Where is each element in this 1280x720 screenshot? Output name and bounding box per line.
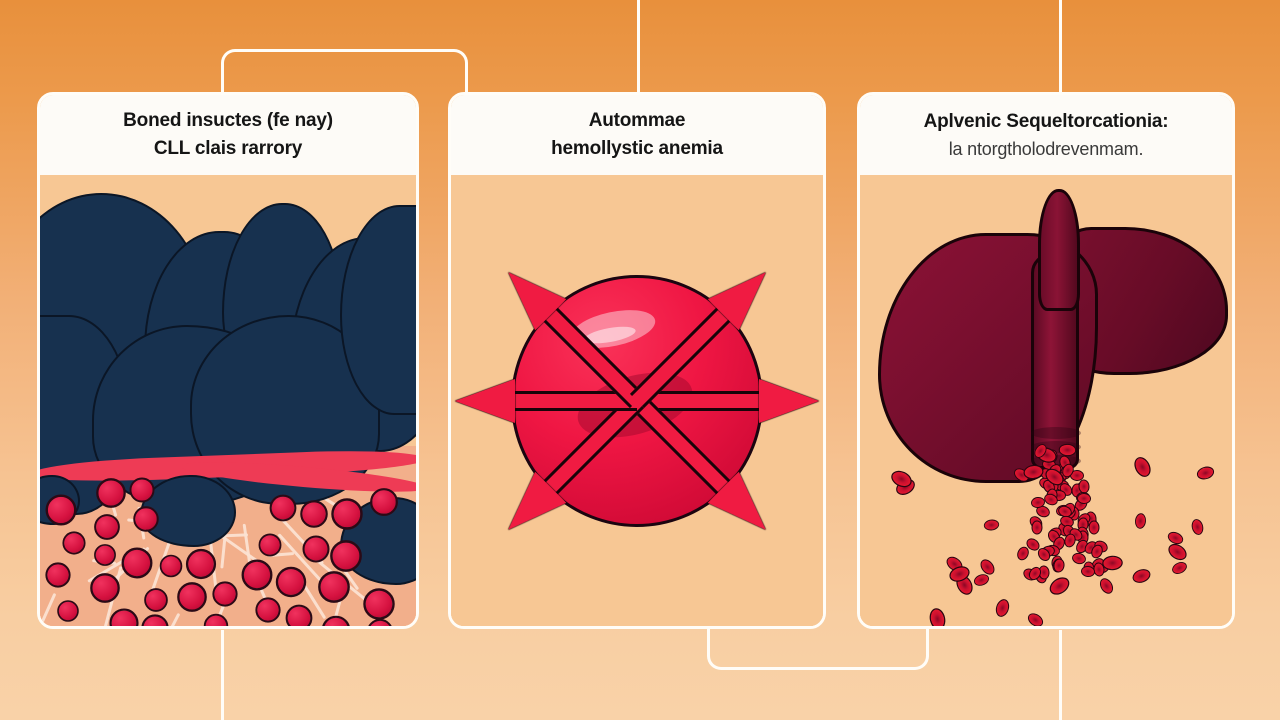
red-blood-cell xyxy=(1035,445,1059,466)
red-blood-cell xyxy=(364,588,395,619)
marrow-vessel-strand xyxy=(268,552,294,557)
marrow-vessel-strand xyxy=(309,487,340,508)
red-blood-cell xyxy=(1038,466,1056,484)
red-blood-cell xyxy=(1131,567,1153,585)
red-blood-cell xyxy=(259,534,282,557)
leukemic-lymphocyte xyxy=(40,315,130,515)
red-blood-cell xyxy=(1057,481,1074,499)
destruction-arrow xyxy=(621,385,781,545)
red-blood-cell xyxy=(1051,535,1067,553)
red-blood-cell xyxy=(1102,556,1123,572)
vessel-ring xyxy=(1031,441,1081,453)
marrow-vessel-strand xyxy=(278,515,325,565)
red-blood-cell xyxy=(1073,480,1090,498)
arrow-head xyxy=(493,256,567,330)
red-blood-cell xyxy=(94,544,116,566)
red-blood-cell xyxy=(1027,514,1045,532)
cell-highlight xyxy=(567,303,658,354)
marrow-vessel-strand xyxy=(199,520,262,566)
red-blood-cell xyxy=(1082,538,1100,556)
connector-top-left-bracket xyxy=(221,49,468,94)
red-blood-cell xyxy=(1012,466,1032,485)
red-blood-cell xyxy=(943,554,964,574)
red-blood-cell xyxy=(1046,574,1072,599)
arrow-shaft xyxy=(630,393,737,500)
cell-highlight-secondary xyxy=(583,323,637,346)
organ-left-lobe xyxy=(878,233,1098,483)
marrow-vessel-strand xyxy=(278,533,329,588)
panel-title-line-2: la ntorgtholodrevenmam. xyxy=(924,136,1169,162)
marrow-tissue-floor xyxy=(40,446,416,626)
leukemic-lymphocyte xyxy=(340,205,416,415)
organ-vessel-stalk xyxy=(1031,253,1079,469)
marrow-sinusoid-band xyxy=(40,447,416,484)
red-blood-cell xyxy=(1076,491,1091,504)
red-blood-cell xyxy=(1059,514,1076,529)
red-blood-cell xyxy=(1073,496,1091,514)
leukemic-lymphocyte xyxy=(222,203,342,398)
vessel-ring xyxy=(1031,455,1081,467)
red-blood-cell xyxy=(130,478,155,503)
red-blood-cell xyxy=(1056,521,1071,538)
panel-header: Aplvenic Sequeltorcationia: la ntorgthol… xyxy=(860,95,1232,175)
red-blood-cell xyxy=(269,495,296,522)
panel-header: Autommae hemollystic anemia xyxy=(451,95,823,175)
panel-title-line-2: CLL clais rarrory xyxy=(123,135,333,163)
red-blood-cell xyxy=(1025,611,1045,626)
red-blood-cell xyxy=(1093,562,1106,577)
red-blood-cell xyxy=(212,582,237,607)
red-blood-cell xyxy=(1081,566,1096,578)
destruction-arrow xyxy=(621,256,781,416)
marrow-vessel-strand xyxy=(252,570,274,617)
destruction-arrow xyxy=(493,256,653,416)
leukemic-lymphocyte xyxy=(40,193,208,443)
panel-autoimmune-hemolytic-anemia[interactable]: Autommae hemollystic anemia xyxy=(448,92,826,629)
red-blood-cell xyxy=(1089,543,1105,560)
arrow-shaft xyxy=(630,300,737,407)
leukemic-lymphocyte xyxy=(190,315,380,505)
red-blood-cell xyxy=(1098,576,1116,596)
cell-central-pallor xyxy=(570,360,699,448)
red-blood-cell xyxy=(276,566,306,596)
red-blood-cell xyxy=(984,519,1001,532)
destruction-arrow xyxy=(455,379,637,423)
red-blood-cell xyxy=(90,573,120,603)
marrow-vessel-strand xyxy=(207,534,248,539)
red-blood-cell xyxy=(928,607,948,626)
illustration-canvas: Boned insuctes (fe nay) CLL clais rarror… xyxy=(0,0,1280,720)
marrow-vessel-strand xyxy=(343,570,359,591)
red-blood-cell xyxy=(1051,475,1068,490)
red-blood-cell xyxy=(1040,478,1057,496)
red-blood-cell xyxy=(370,488,398,516)
infiltrating-lymphocyte xyxy=(140,475,236,547)
panel-illustration-area xyxy=(40,175,416,626)
arrow-shaft xyxy=(505,391,637,411)
connector-bottom-center-bracket xyxy=(707,628,929,670)
red-blood-cell xyxy=(133,506,158,531)
marrow-vessel-strand xyxy=(351,507,389,534)
red-blood-cell xyxy=(1045,488,1058,504)
red-blood-cell xyxy=(1084,512,1099,529)
red-blood-cell xyxy=(1046,462,1064,480)
red-blood-cell xyxy=(1075,510,1093,528)
destruction-arrow xyxy=(493,385,653,545)
red-blood-cell xyxy=(94,514,120,540)
marrow-vessel-strand xyxy=(333,580,347,624)
panel-title: Aplvenic Sequeltorcationia: la ntorgthol… xyxy=(924,108,1169,162)
red-blood-cell xyxy=(1035,504,1052,519)
red-blood-cell xyxy=(1072,483,1083,497)
red-blood-cell xyxy=(978,557,998,578)
red-blood-cell xyxy=(1134,512,1146,529)
red-blood-cell xyxy=(1060,462,1076,479)
red-blood-cell xyxy=(1076,492,1091,504)
panel-illustration-area xyxy=(860,175,1232,626)
red-blood-cell xyxy=(1067,526,1085,544)
marrow-vessel-strand xyxy=(220,536,226,568)
red-blood-cell xyxy=(1033,567,1049,584)
panel-title: Autommae hemollystic anemia xyxy=(551,107,723,162)
red-blood-cell xyxy=(1042,465,1067,488)
red-blood-cell xyxy=(186,549,216,579)
marrow-vessel-strand xyxy=(40,475,79,494)
red-blood-cell xyxy=(1021,566,1039,583)
red-blood-cell xyxy=(256,597,281,622)
marrow-sinusoid-band-secondary xyxy=(180,456,416,498)
destruction-arrow xyxy=(637,379,819,423)
red-blood-cell xyxy=(1166,529,1185,546)
red-blood-cell xyxy=(511,275,763,527)
red-blood-cell xyxy=(1031,496,1046,509)
infiltrating-lymphocyte xyxy=(340,497,416,585)
red-blood-cell xyxy=(1053,558,1066,574)
red-blood-cell xyxy=(893,476,917,498)
red-blood-cell xyxy=(1131,454,1154,479)
marrow-vessel-strand xyxy=(138,507,146,540)
connector-bottom-left-line xyxy=(221,630,224,720)
red-blood-cell xyxy=(1055,480,1069,491)
red-blood-cell xyxy=(1045,449,1058,465)
marrow-vessel-strand xyxy=(149,523,177,594)
red-blood-cell xyxy=(300,500,328,528)
red-blood-cell xyxy=(889,468,915,491)
red-blood-cell xyxy=(366,619,392,626)
red-blood-cell xyxy=(322,615,351,626)
arrow-head xyxy=(708,256,782,330)
red-blood-cell xyxy=(1170,560,1189,577)
red-blood-cell xyxy=(160,554,183,577)
panel-title-line-2: hemollystic anemia xyxy=(551,135,723,163)
red-blood-cell xyxy=(1078,480,1090,495)
red-blood-cell xyxy=(1046,525,1064,542)
red-blood-cell xyxy=(953,572,976,597)
marrow-vessel-strand xyxy=(93,479,122,486)
red-blood-cell xyxy=(1063,532,1078,549)
red-blood-cell xyxy=(1061,500,1078,518)
infiltrating-lymphocyte xyxy=(40,475,80,525)
red-blood-cell xyxy=(1043,492,1060,508)
marrow-vessel-strand xyxy=(152,613,180,626)
red-blood-cell xyxy=(1015,544,1031,561)
marrow-vessel-strand xyxy=(99,566,122,626)
marrow-vessel-strand xyxy=(207,522,218,589)
panel-title-line-1: Aplvenic Sequeltorcationia: xyxy=(924,111,1169,132)
arrow-shaft xyxy=(637,391,769,411)
marrow-vessel-strand xyxy=(311,439,320,477)
red-blood-cell xyxy=(1024,536,1042,553)
red-blood-cell xyxy=(1037,475,1054,491)
organ-upper-neck xyxy=(1038,189,1080,311)
liver-spleen-sequestration-illustration xyxy=(860,175,1232,626)
arrow-shaft xyxy=(537,300,644,407)
red-blood-cell xyxy=(994,598,1012,619)
red-blood-cell xyxy=(1051,554,1064,569)
red-blood-cell xyxy=(62,532,85,555)
red-blood-cell xyxy=(1060,522,1077,540)
red-blood-cell xyxy=(1027,565,1044,583)
red-blood-cell xyxy=(286,604,313,626)
red-blood-cell xyxy=(1095,557,1112,575)
red-blood-cell xyxy=(1083,561,1096,576)
marrow-vessel-strand xyxy=(72,443,120,492)
red-blood-cell xyxy=(121,548,152,579)
marrow-vessel-strand xyxy=(92,559,116,565)
red-blood-cell xyxy=(241,560,272,591)
red-blood-cell xyxy=(1037,565,1049,580)
red-blood-cell xyxy=(1089,556,1107,574)
red-blood-cell xyxy=(331,498,362,529)
red-blood-cell xyxy=(1039,544,1056,559)
red-blood-cell xyxy=(1055,504,1071,518)
vessel-ring xyxy=(1031,427,1081,439)
red-blood-cell xyxy=(1022,463,1044,480)
connector-bottom-right-line xyxy=(1059,630,1062,720)
red-blood-cell xyxy=(109,608,138,626)
marrow-vessel-strand xyxy=(243,524,252,566)
red-blood-cell xyxy=(1068,506,1080,521)
red-blood-cell xyxy=(1046,528,1063,546)
red-blood-cell xyxy=(1076,525,1091,542)
red-blood-cell xyxy=(96,479,126,509)
arrow-head xyxy=(493,471,567,545)
red-blood-cell xyxy=(1035,545,1052,563)
arrow-head xyxy=(708,471,782,545)
red-blood-cell xyxy=(141,615,168,626)
red-blood-cell xyxy=(1051,470,1069,487)
red-blood-cell xyxy=(204,614,228,626)
marrow-vessel-strand xyxy=(106,546,150,587)
panel-splenic-sequestration[interactable]: Aplvenic Sequeltorcationia: la ntorgthol… xyxy=(857,92,1235,629)
red-blood-cell xyxy=(1132,625,1149,626)
marrow-vessel-strand xyxy=(139,454,184,483)
red-blood-cell xyxy=(1069,469,1083,481)
red-blood-cell xyxy=(1060,505,1078,522)
marrow-vessel-strand xyxy=(295,465,368,480)
red-blood-cell xyxy=(1058,454,1073,471)
red-blood-cell xyxy=(45,563,70,588)
connector-top-right-line xyxy=(1059,0,1062,92)
red-blood-cell xyxy=(318,571,350,603)
red-blood-cell xyxy=(302,536,329,563)
red-blood-cell xyxy=(1047,477,1060,493)
red-blood-cell xyxy=(1041,458,1057,472)
red-blood-cell xyxy=(973,572,991,588)
marrow-vessel-strand xyxy=(157,438,207,486)
marrow-vessel-strand xyxy=(312,556,379,611)
red-blood-cell xyxy=(1085,511,1097,526)
connector-top-center-line xyxy=(637,0,640,92)
panel-illustration-area xyxy=(451,175,823,626)
marrow-vessel-strand xyxy=(211,604,225,626)
red-blood-cell xyxy=(1056,461,1072,478)
red-blood-cell xyxy=(330,540,362,572)
red-blood-cell xyxy=(1032,442,1049,460)
arrow-shaft xyxy=(537,393,644,500)
bone-marrow-infiltration-illustration xyxy=(40,175,416,626)
red-blood-cell xyxy=(1190,518,1205,536)
red-blood-cell xyxy=(1058,464,1072,480)
red-blood-cell-destruction-illustration xyxy=(451,175,823,626)
red-blood-cell xyxy=(1092,539,1110,555)
red-blood-cell xyxy=(45,494,76,525)
panel-header: Boned insuctes (fe nay) CLL clais rarror… xyxy=(40,95,416,175)
red-blood-cell xyxy=(57,601,79,623)
red-blood-cell xyxy=(1045,544,1061,558)
red-blood-cell xyxy=(1057,504,1074,519)
red-blood-cell xyxy=(1078,530,1089,544)
panel-bone-marrow-infiltration[interactable]: Boned insuctes (fe nay) CLL clais rarror… xyxy=(37,92,419,629)
organ-right-lobe xyxy=(1038,227,1228,375)
panel-title-line-1: Autommae xyxy=(589,110,686,131)
arrow-head xyxy=(455,379,515,423)
marrow-vessel-strand xyxy=(87,547,145,583)
red-blood-cell xyxy=(1071,551,1087,565)
red-blood-cell xyxy=(1196,465,1216,482)
red-blood-cell xyxy=(1051,558,1065,574)
red-blood-cell xyxy=(1165,541,1189,564)
red-blood-cell xyxy=(177,582,207,612)
marrow-vessel-strand xyxy=(40,593,56,626)
leukemic-lymphocyte xyxy=(290,237,416,452)
panel-title-line-1: Boned insuctes (fe nay) xyxy=(123,110,333,131)
red-blood-cell xyxy=(145,588,169,612)
red-blood-cell xyxy=(947,563,971,584)
marrow-vessel-strand xyxy=(102,471,118,517)
red-blood-cell xyxy=(1058,444,1076,457)
marrow-vessel-strand xyxy=(128,519,189,528)
leukemic-lymphocyte xyxy=(144,231,294,461)
red-blood-cell xyxy=(1031,521,1042,535)
red-blood-cell xyxy=(1089,520,1100,534)
arrow-head xyxy=(759,379,819,423)
panel-title: Boned insuctes (fe nay) CLL clais rarror… xyxy=(123,107,333,162)
leukemic-lymphocyte xyxy=(92,325,292,505)
red-blood-cell xyxy=(1077,517,1089,532)
red-blood-cell xyxy=(1074,537,1091,555)
red-blood-cell xyxy=(1050,472,1066,489)
red-blood-cell xyxy=(1052,490,1066,501)
marrow-vessel-strand xyxy=(300,581,326,620)
marrow-vessel-strand xyxy=(356,485,384,564)
